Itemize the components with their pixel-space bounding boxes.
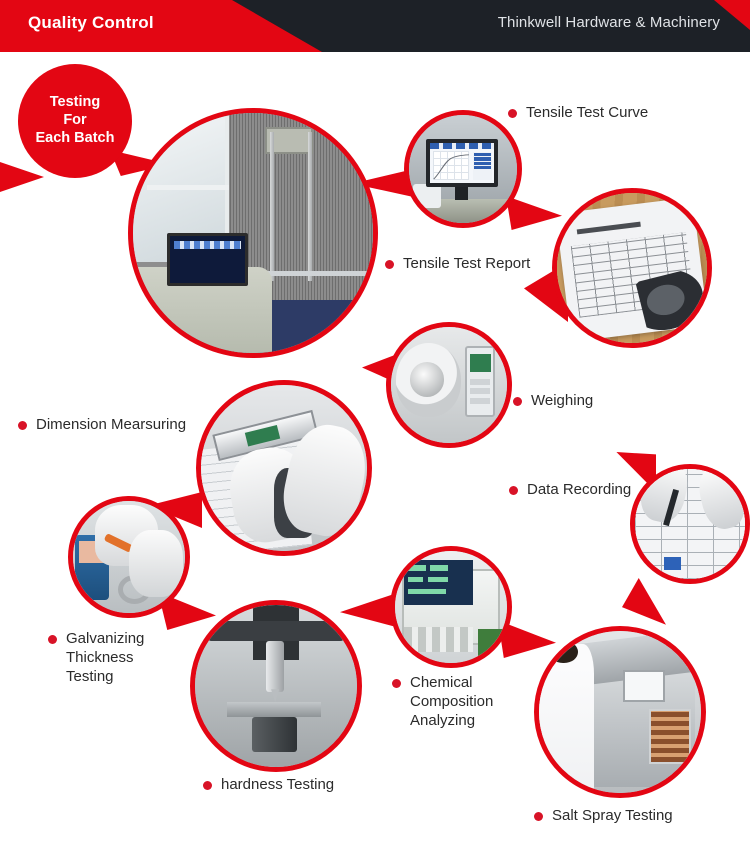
- label-hardness-testing: hardness Testing: [203, 775, 334, 794]
- label-dimension-measuring: Dimension Mearsuring: [18, 415, 186, 434]
- connector-machine-left-tip: [0, 162, 44, 192]
- photo-data-recording[interactable]: [630, 464, 750, 584]
- label-text: Salt Spray Testing: [552, 806, 673, 825]
- label-text: Chemical Composition Analyzing: [410, 673, 493, 731]
- stress-strain-curve-icon: [433, 151, 470, 180]
- bullet-icon: [508, 109, 517, 118]
- label-text: hardness Testing: [221, 775, 334, 794]
- photo-chemical-analyzer[interactable]: [390, 546, 512, 668]
- label-chemical-composition: Chemical Composition Analyzing: [392, 673, 493, 731]
- galvanizing-illustration: [73, 501, 185, 613]
- caliper-illustration: [201, 385, 367, 551]
- bullet-icon: [385, 260, 394, 269]
- photo-salt-spray-testing[interactable]: [534, 626, 706, 798]
- label-weighing: Weighing: [513, 391, 593, 410]
- label-text: Tensile Test Report: [403, 254, 530, 273]
- label-text: Dimension Mearsuring: [36, 415, 186, 434]
- bullet-icon: [534, 812, 543, 821]
- photo-weighing[interactable]: [386, 322, 512, 448]
- page-header: Quality Control Thinkwell Hardware & Mac…: [0, 0, 750, 52]
- hardness-tester-illustration: [195, 605, 357, 767]
- brand-name: Thinkwell Hardware & Machinery: [498, 14, 720, 31]
- salt-spray-chamber-illustration: [539, 631, 701, 793]
- bullet-icon: [392, 679, 401, 688]
- bullet-icon: [203, 781, 212, 790]
- photo-galvanizing-thickness[interactable]: [68, 496, 190, 618]
- connector-record-to-salt: [622, 578, 666, 630]
- photo-hardness-testing[interactable]: [190, 600, 362, 772]
- bullet-icon: [513, 397, 522, 406]
- bullet-icon: [18, 421, 27, 430]
- bullet-icon: [48, 635, 57, 644]
- chemical-analyzer-illustration: [395, 551, 507, 663]
- photo-tensile-test-report[interactable]: [552, 188, 712, 348]
- quality-control-page: Quality Control Thinkwell Hardware & Mac…: [0, 0, 750, 850]
- label-tensile-test-report: Tensile Test Report: [385, 254, 530, 273]
- label-data-recording: Data Recording: [509, 480, 631, 499]
- label-tensile-test-curve: Tensile Test Curve: [508, 103, 648, 122]
- label-text: Data Recording: [527, 480, 631, 499]
- photo-tensile-test-machine[interactable]: [128, 108, 378, 358]
- label-salt-spray-testing: Salt Spray Testing: [534, 806, 673, 825]
- tensile-machine-illustration: [133, 113, 373, 353]
- label-text: Galvanizing Thickness Testing: [66, 629, 144, 687]
- page-title: Quality Control: [28, 13, 154, 33]
- photo-tensile-test-curve[interactable]: [404, 110, 522, 228]
- testing-badge-label: Testing For Each Batch: [36, 94, 115, 147]
- test-report-illustration: [557, 193, 707, 343]
- photo-dimension-measuring[interactable]: [196, 380, 372, 556]
- bullet-icon: [509, 486, 518, 495]
- label-text: Weighing: [531, 391, 593, 410]
- label-galvanizing-thickness: Galvanizing Thickness Testing: [48, 629, 144, 687]
- label-text: Tensile Test Curve: [526, 103, 648, 122]
- test-curve-illustration: [409, 115, 517, 223]
- testing-badge: Testing For Each Batch: [18, 64, 132, 178]
- data-recording-illustration: [635, 469, 745, 579]
- weighing-illustration: [391, 327, 507, 443]
